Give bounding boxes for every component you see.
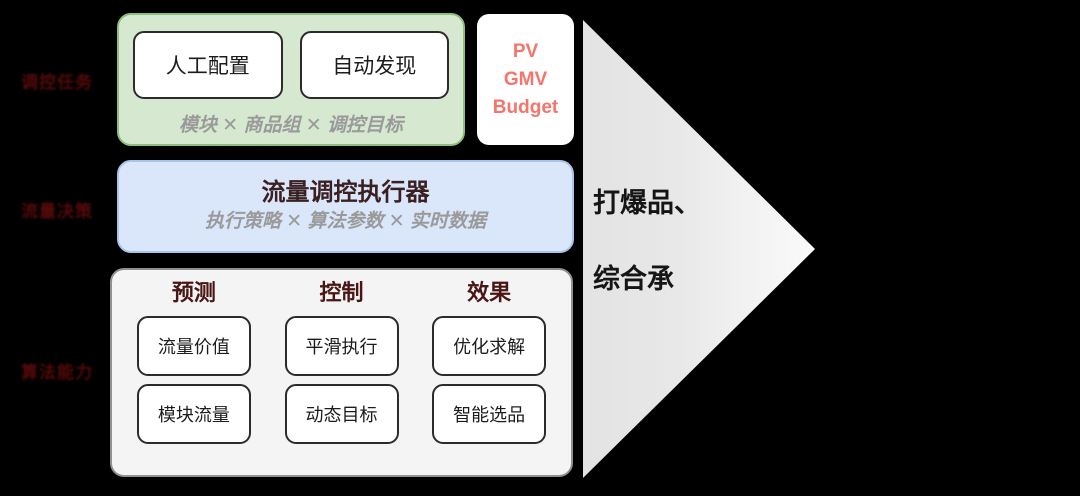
- outcome-arrow-line-1: 打爆品、: [593, 187, 701, 221]
- capability-chip-optimization-solving[interactable]: 优化求解: [432, 316, 546, 376]
- capability-heading-effect: 效果: [467, 280, 511, 306]
- capability-heading-prediction: 预测: [172, 280, 216, 306]
- executor-title: 流量调控执行器: [262, 180, 430, 206]
- capability-chip-traffic-value[interactable]: 流量价值: [137, 316, 251, 376]
- executor-card: 流量调控执行器 执行策略 ✕ 算法参数 ✕ 实时数据: [117, 160, 574, 253]
- stage-label-algorithm-capability: 算法能力: [8, 364, 106, 381]
- stage-label-regulation-task: 调控任务: [8, 74, 106, 91]
- metric-budget: Budget: [493, 98, 558, 117]
- metric-gmv: GMV: [504, 70, 547, 89]
- capability-heading-control: 控制: [320, 280, 364, 306]
- metrics-card: PV GMV Budget: [477, 14, 574, 145]
- outcome-arrow: 打爆品、 综合承: [583, 20, 815, 478]
- task-card: 人工配置 自动发现 模块 ✕ 商品组 ✕ 调控目标: [117, 13, 465, 146]
- executor-subtitle: 执行策略 ✕ 算法参数 ✕ 实时数据: [205, 212, 486, 233]
- diagram-canvas: 调控任务 流量决策 算法能力 人工配置 自动发现 模块 ✕ 商品组 ✕ 调控目标…: [0, 0, 1080, 496]
- stage-label-traffic-decision: 流量决策: [8, 203, 106, 220]
- task-chip-manual-config[interactable]: 人工配置: [133, 31, 283, 99]
- task-chip-row: 人工配置 自动发现: [133, 31, 449, 99]
- capability-column-prediction: 预测 流量价值 模块流量: [126, 280, 262, 463]
- capability-column-control: 控制 平滑执行 动态目标: [274, 280, 410, 463]
- outcome-arrow-text: 打爆品、 综合承: [583, 20, 815, 478]
- capability-chip-smart-selection[interactable]: 智能选品: [432, 384, 546, 444]
- capability-chip-dynamic-target[interactable]: 动态目标: [285, 384, 399, 444]
- task-card-subtitle: 模块 ✕ 商品组 ✕ 调控目标: [119, 110, 463, 137]
- outcome-arrow-line-2: 综合承: [593, 263, 674, 297]
- capability-chip-module-traffic[interactable]: 模块流量: [137, 384, 251, 444]
- capability-chip-smooth-execution[interactable]: 平滑执行: [285, 316, 399, 376]
- capability-panel: 预测 流量价值 模块流量 控制 平滑执行 动态目标 效果 优化求解 智能选品: [110, 268, 573, 477]
- task-chip-auto-discovery[interactable]: 自动发现: [300, 31, 450, 99]
- metric-pv: PV: [513, 42, 538, 61]
- capability-column-effect: 效果 优化求解 智能选品: [421, 280, 557, 463]
